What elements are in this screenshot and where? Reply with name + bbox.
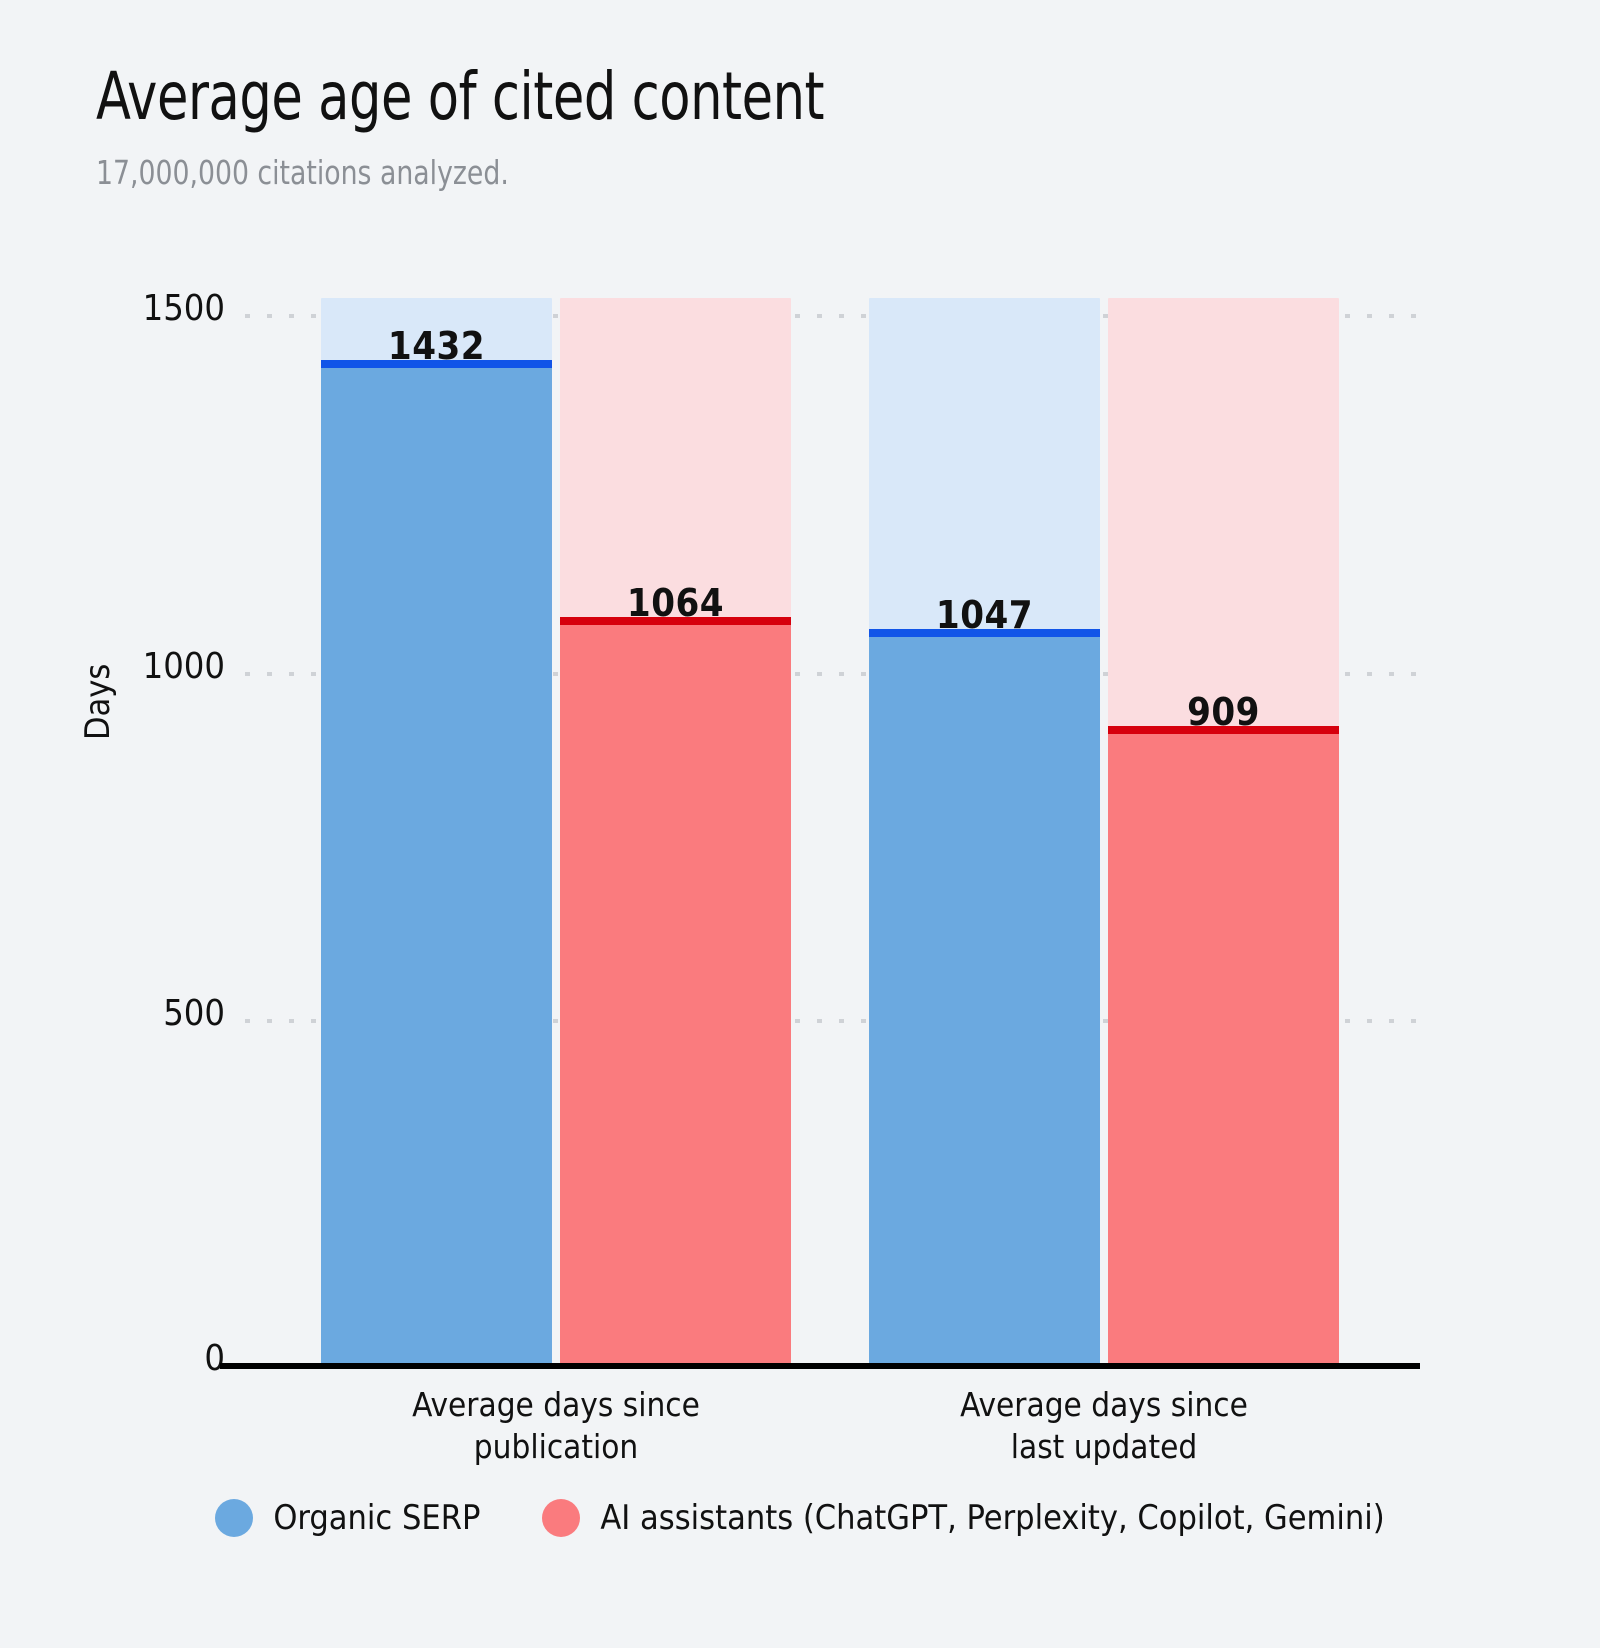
plot-area: 1500 1000 500 0 Days 1432 1064 1 bbox=[0, 0, 1600, 1648]
ytick-label-1000: 1000 bbox=[143, 646, 225, 687]
legend-swatch-circle-icon bbox=[215, 1499, 253, 1537]
chart-legend: Organic SERP AI assistants (ChatGPT, Per… bbox=[0, 1498, 1600, 1538]
bar-value-ai-updated: 909 bbox=[1108, 690, 1339, 734]
category-label-publication: Average days since publication bbox=[316, 1384, 796, 1468]
bar-fill-ai-publication bbox=[560, 623, 791, 1366]
legend-label-organic-serp: Organic SERP bbox=[273, 1498, 480, 1538]
x-axis-line bbox=[220, 1363, 1420, 1369]
category-label-publication-line2: publication bbox=[316, 1426, 796, 1468]
bar-value-organic-publication: 1432 bbox=[321, 324, 552, 368]
bar-fill-organic-publication bbox=[321, 366, 552, 1366]
ytick-label-0: 0 bbox=[204, 1338, 225, 1379]
chart-page: Average age of cited content 17,000,000 … bbox=[0, 0, 1600, 1648]
legend-label-ai-assistants: AI assistants (ChatGPT, Perplexity, Copi… bbox=[600, 1498, 1384, 1538]
category-label-publication-line1: Average days since bbox=[316, 1384, 796, 1426]
ytick-label-500: 500 bbox=[163, 993, 225, 1034]
bar-ai-updated[interactable]: 909 bbox=[1108, 298, 1339, 1366]
bar-organic-updated[interactable]: 1047 bbox=[869, 298, 1100, 1366]
ytick-label-1500: 1500 bbox=[143, 288, 225, 329]
bar-value-ai-publication: 1064 bbox=[560, 581, 791, 625]
bar-fill-ai-updated bbox=[1108, 732, 1339, 1367]
legend-item-organic-serp[interactable]: Organic SERP bbox=[215, 1498, 480, 1538]
yaxis-title: Days bbox=[78, 664, 118, 740]
bar-organic-publication[interactable]: 1432 bbox=[321, 298, 552, 1366]
legend-item-ai-assistants[interactable]: AI assistants (ChatGPT, Perplexity, Copi… bbox=[542, 1498, 1384, 1538]
bar-fill-organic-updated bbox=[869, 635, 1100, 1366]
category-label-updated-line1: Average days since bbox=[864, 1384, 1344, 1426]
legend-swatch-circle-icon bbox=[542, 1499, 580, 1537]
category-label-updated: Average days since last updated bbox=[864, 1384, 1344, 1468]
category-label-updated-line2: last updated bbox=[864, 1426, 1344, 1468]
bar-ai-publication[interactable]: 1064 bbox=[560, 298, 791, 1366]
bar-value-organic-updated: 1047 bbox=[869, 593, 1100, 637]
